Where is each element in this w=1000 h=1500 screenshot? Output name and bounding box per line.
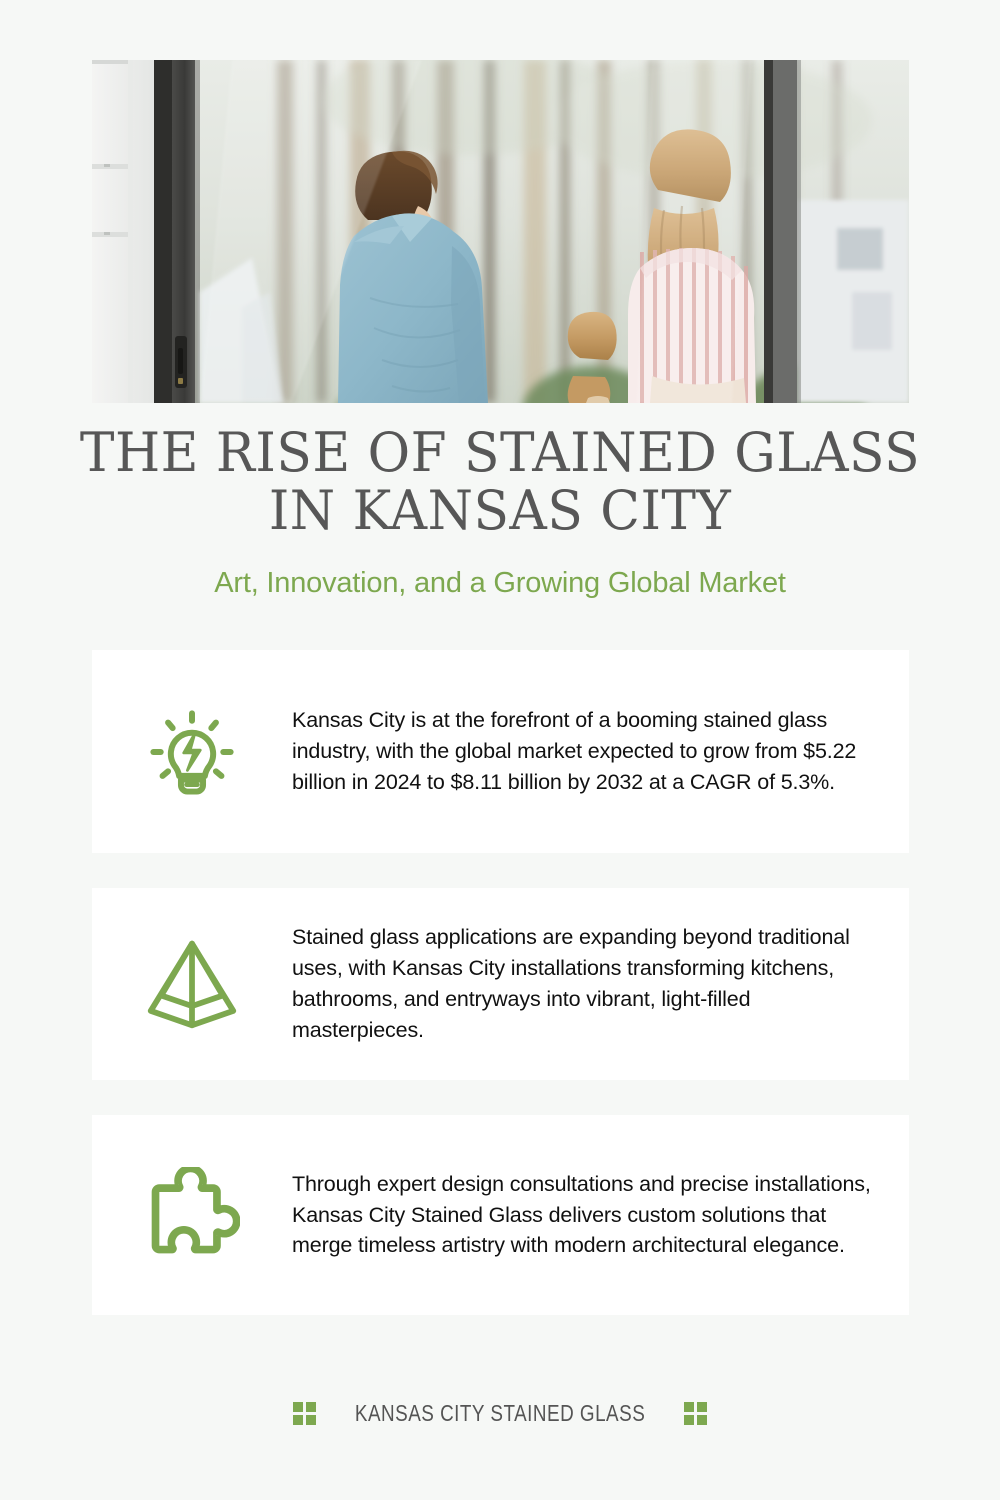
logo-squares-left [293,1402,316,1425]
hero-photo-illustration [92,60,909,403]
footer-logo: KANSAS CITY STAINED GLASS [0,1400,1000,1427]
logo-square [293,1415,303,1425]
logo-square [306,1415,316,1425]
logo-square [684,1415,694,1425]
fact-card: Through expert design consultations and … [92,1115,909,1315]
puzzle-piece-icon [92,1167,292,1263]
logo-square [697,1415,707,1425]
logo-square [697,1402,707,1412]
hero-photo [92,60,909,403]
fact-card-text: Through expert design consultations and … [292,1169,909,1262]
page-subtitle: Art, Innovation, and a Growing Global Ma… [0,567,1000,600]
logo-square [293,1402,303,1412]
infographic-page: THE RISE OF STAINED GLASS IN KANSAS CITY… [0,0,1000,1500]
puzzle-piece-icon-glyph [144,1167,240,1263]
fact-card-text: Stained glass applications are expanding… [292,922,909,1046]
lightbulb-idea-icon [92,706,292,798]
logo-text: KANSAS CITY STAINED GLASS [355,1400,645,1427]
page-title: THE RISE OF STAINED GLASS IN KANSAS CITY [20,424,980,541]
logo-square [306,1402,316,1412]
fact-card-list: Kansas City is at the forefront of a boo… [92,650,909,1350]
fact-card: Stained glass applications are expanding… [92,888,909,1080]
page-title-line-2: IN KANSAS CITY [269,479,731,542]
lightbulb-idea-icon-glyph [146,706,238,798]
pyramid-wireframe-icon [92,936,292,1032]
header-block: THE RISE OF STAINED GLASS IN KANSAS CITY… [0,424,1000,600]
fact-card: Kansas City is at the forefront of a boo… [92,650,909,853]
page-title-line-1: THE RISE OF STAINED GLASS [80,421,920,484]
logo-square [684,1402,694,1412]
logo-squares-right [684,1402,707,1425]
pyramid-wireframe-icon-glyph [144,936,240,1032]
fact-card-text: Kansas City is at the forefront of a boo… [292,705,909,798]
